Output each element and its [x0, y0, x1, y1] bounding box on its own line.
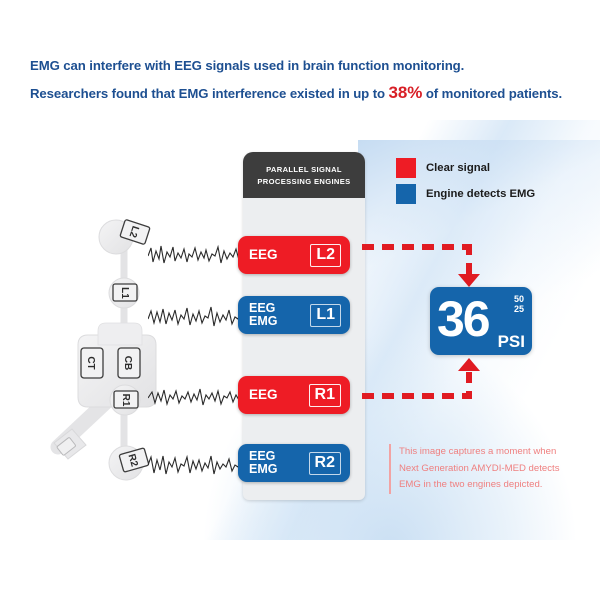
svg-text:CT: CT: [85, 356, 96, 369]
legend-label-engine-detects-emg: Engine detects EMG: [426, 188, 535, 200]
engine-row-l2[interactable]: EEG L2: [238, 236, 350, 274]
legend-label-clear-signal: Clear signal: [426, 162, 490, 174]
panel-header-line-2: PROCESSING ENGINES: [257, 176, 350, 187]
engine-row-r1-channel: R1: [309, 384, 341, 407]
svg-text:L1: L1: [119, 287, 130, 299]
psi-gauge-unit: PSI: [498, 333, 525, 350]
psi-gauge-value: 36: [437, 288, 489, 350]
engine-row-r2-label-emg: EMG: [249, 463, 309, 476]
engine-row-l1-label: EEG EMG: [249, 302, 310, 328]
headline-line-2-after: of monitored patients.: [422, 86, 562, 101]
eeg-waveform-r1: [148, 380, 250, 414]
engine-row-r1-label: EEG: [249, 388, 309, 402]
connector-bottom-horizontal: [362, 393, 472, 399]
headline-percent-value: 38%: [389, 83, 423, 102]
patient-sensor-strip: L2 L1 CT CB R1 R2: [18, 215, 168, 505]
connector-top-arrow-icon: [458, 274, 480, 287]
connector-top-horizontal: [362, 244, 472, 250]
panel-header: PARALLEL SIGNAL PROCESSING ENGINES: [243, 152, 365, 198]
connector-top-vertical: [466, 244, 472, 278]
engine-row-r2-channel: R2: [309, 452, 341, 475]
engine-row-r2[interactable]: EEG EMG R2: [238, 444, 350, 482]
caption-line-1: This image captures a moment when: [399, 444, 584, 461]
psi-gauge-minor-top: 50: [514, 294, 524, 304]
psi-gauge-readout: 36 50 25 PSI: [430, 287, 532, 355]
svg-text:CB: CB: [122, 356, 133, 370]
engine-row-l1-label-emg: EMG: [249, 315, 310, 328]
psi-gauge-minor-bottom: 25: [514, 304, 524, 314]
engine-row-l2-label: EEG: [249, 248, 310, 262]
eeg-waveform-r2: [148, 448, 250, 482]
parallel-signal-processing-panel: PARALLEL SIGNAL PROCESSING ENGINES EEG L…: [243, 152, 365, 500]
headline-line-2-before: Researchers found that EMG interference …: [30, 86, 389, 101]
legend-item-clear-signal: Clear signal: [396, 155, 535, 181]
headline-block: EMG can interfere with EEG signals used …: [30, 52, 575, 107]
engine-row-l1-channel: L1: [310, 304, 341, 327]
eeg-waveform-l1: [148, 300, 250, 334]
engine-row-r1[interactable]: EEG R1: [238, 376, 350, 414]
panel-header-line-1: PARALLEL SIGNAL: [266, 164, 342, 175]
engine-row-r2-label: EEG EMG: [249, 450, 309, 476]
caption-block: This image captures a moment when Next G…: [389, 444, 584, 494]
svg-text:R1: R1: [120, 394, 131, 407]
svg-text:L2: L2: [126, 224, 140, 239]
psi-gauge-minor-values: 50 25: [514, 294, 524, 314]
legend-swatch-blue-icon: [396, 184, 416, 204]
svg-text:R2: R2: [126, 453, 140, 469]
legend: Clear signal Engine detects EMG: [396, 155, 535, 207]
legend-item-engine-detects-emg: Engine detects EMG: [396, 181, 535, 207]
connector-bottom-vertical: [466, 372, 472, 396]
legend-swatch-red-icon: [396, 158, 416, 178]
connector-bottom-arrow-icon: [458, 358, 480, 371]
caption-line-3: EMG in the two engines depicted.: [399, 477, 584, 494]
engine-row-l2-channel: L2: [310, 244, 341, 267]
infographic-canvas: EMG can interfere with EEG signals used …: [0, 0, 600, 600]
headline-line-2: Researchers found that EMG interference …: [30, 79, 575, 107]
eeg-waveform-l2: [148, 238, 250, 272]
engine-row-l1[interactable]: EEG EMG L1: [238, 296, 350, 334]
sensor-strip-graphic: L2 L1 CT CB R1 R2: [18, 215, 168, 505]
caption-line-2: Next Generation AMYDI-MED detects: [399, 461, 584, 478]
headline-line-1: EMG can interfere with EEG signals used …: [30, 52, 575, 79]
